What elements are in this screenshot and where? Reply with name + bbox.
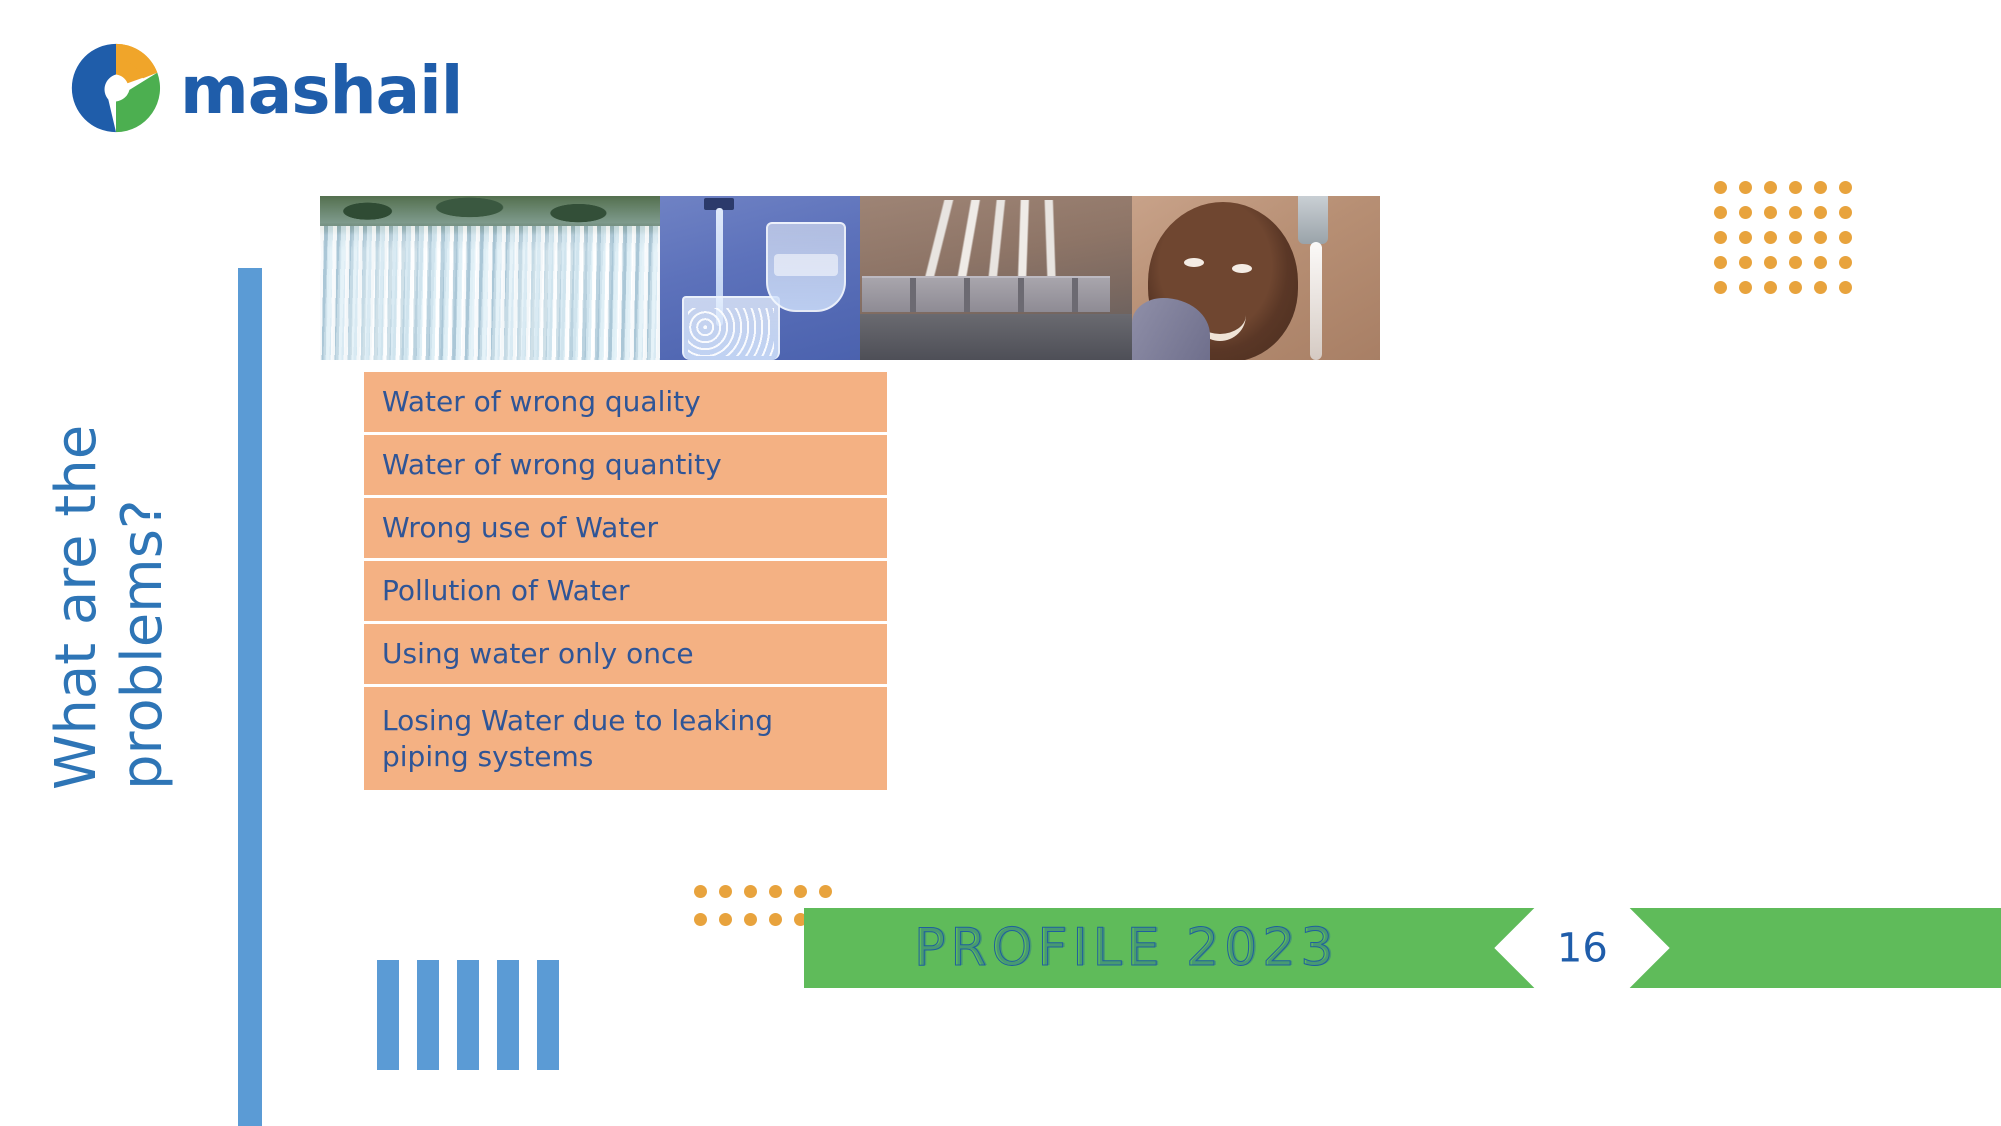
list-item-label: Wrong use of Water xyxy=(382,510,658,546)
page-number-diamond: 16 xyxy=(1494,860,1669,1035)
reservoir-water-shape xyxy=(860,314,1132,360)
dot xyxy=(1764,206,1777,219)
dot xyxy=(1839,206,1852,219)
footer-title: PROFILE 2023 xyxy=(914,918,1338,978)
dot xyxy=(769,913,782,926)
dot xyxy=(1764,231,1777,244)
dot xyxy=(1714,206,1727,219)
decor-bar xyxy=(537,960,559,1070)
photo-dam: dam penstock pipes feeding a powerhouse xyxy=(860,196,1132,360)
list-item[interactable]: Water of wrong quantity xyxy=(364,435,887,498)
dot xyxy=(1839,256,1852,269)
dot xyxy=(1739,256,1752,269)
decor-bar xyxy=(457,960,479,1070)
dot xyxy=(1764,181,1777,194)
dot xyxy=(694,913,707,926)
water-jet-shape xyxy=(1310,242,1322,360)
dot xyxy=(694,885,707,898)
dot xyxy=(719,913,732,926)
left-accent-bar xyxy=(238,268,262,1126)
dot-grid-top-right xyxy=(1714,181,1864,306)
dot xyxy=(1789,181,1802,194)
dot xyxy=(744,885,757,898)
dot xyxy=(1739,206,1752,219)
dot xyxy=(1814,256,1827,269)
dot xyxy=(794,885,807,898)
dot xyxy=(1814,181,1827,194)
decor-bar xyxy=(417,960,439,1070)
decor-bar xyxy=(377,960,399,1070)
dot xyxy=(1714,231,1727,244)
brand-wordmark: mashail xyxy=(180,58,462,124)
page-title-line-1: What are the xyxy=(44,425,110,790)
photo-glass: tap filling a drinking glass with water xyxy=(660,196,860,360)
dot xyxy=(1739,181,1752,194)
dot xyxy=(1714,281,1727,294)
dot xyxy=(1789,206,1802,219)
decor-bar xyxy=(497,960,519,1070)
dot xyxy=(1714,181,1727,194)
photo-child: smiling child drinking at a water tap xyxy=(1132,196,1380,360)
footer-banner: PROFILE 2023 16 xyxy=(804,908,2001,988)
dot xyxy=(1789,281,1802,294)
list-item-label: Using water only once xyxy=(382,636,694,672)
list-item-label: Water of wrong quality xyxy=(382,384,701,420)
list-item-label: Pollution of Water xyxy=(382,573,630,609)
dot xyxy=(1789,231,1802,244)
bar-group xyxy=(377,960,559,1070)
goblet-shape xyxy=(766,222,846,312)
dot xyxy=(819,885,832,898)
dot xyxy=(1764,256,1777,269)
list-item-label: Losing Water due to leaking piping syste… xyxy=(382,703,822,775)
dot xyxy=(1839,231,1852,244)
tap-spout-shape xyxy=(1298,196,1328,244)
list-item-label: Water of wrong quantity xyxy=(382,447,722,483)
tumbler-shape xyxy=(682,296,780,360)
child-eye-left-shape xyxy=(1184,258,1204,267)
dot xyxy=(769,885,782,898)
dot xyxy=(744,913,757,926)
child-eye-right-shape xyxy=(1232,264,1252,273)
dot xyxy=(1814,281,1827,294)
dot xyxy=(1814,206,1827,219)
list-item[interactable]: Wrong use of Water xyxy=(364,498,887,561)
dot xyxy=(1739,231,1752,244)
powerhouse-shape xyxy=(862,276,1110,312)
dot xyxy=(719,885,732,898)
photo-strip: waterfall cascading over rock ledge tap … xyxy=(320,196,1599,360)
page-title-line-2: problems? xyxy=(110,499,176,790)
dot xyxy=(1839,281,1852,294)
dot xyxy=(1714,256,1727,269)
dot xyxy=(1814,231,1827,244)
problem-list: Water of wrong quality Water of wrong qu… xyxy=(364,372,887,790)
list-item[interactable]: Losing Water due to leaking piping syste… xyxy=(364,687,887,790)
list-item[interactable]: Using water only once xyxy=(364,624,887,687)
dot xyxy=(1739,281,1752,294)
page-number: 16 xyxy=(1557,925,1608,971)
dot xyxy=(1839,181,1852,194)
photo-waterfall: waterfall cascading over rock ledge xyxy=(320,196,660,360)
dot xyxy=(1764,281,1777,294)
page-title: What are the problems? xyxy=(10,90,210,790)
list-item[interactable]: Water of wrong quality xyxy=(364,372,887,435)
dot xyxy=(1789,256,1802,269)
list-item[interactable]: Pollution of Water xyxy=(364,561,887,624)
